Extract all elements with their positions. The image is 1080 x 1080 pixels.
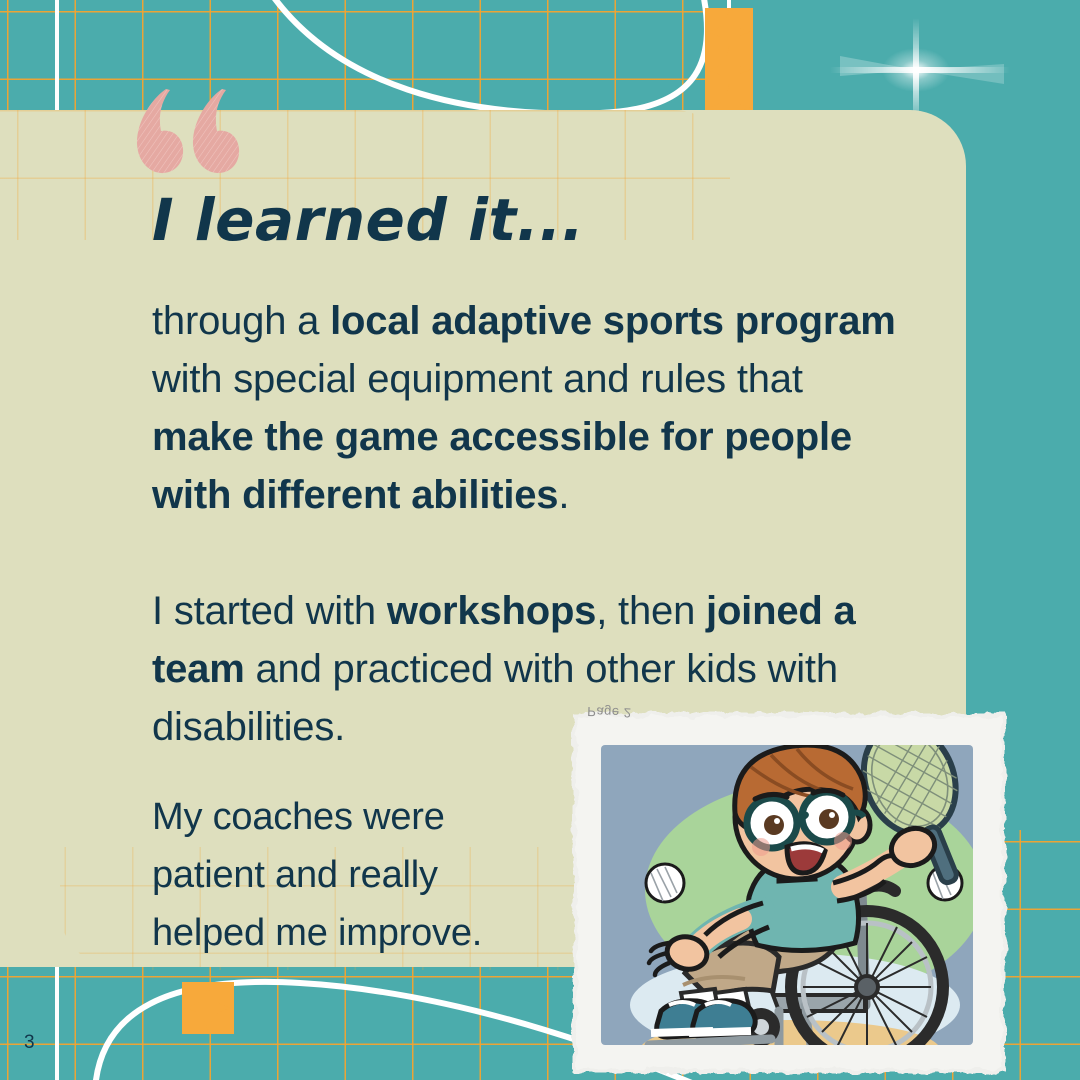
text-run-bold: local adaptive sports program	[330, 299, 895, 343]
text-run: .	[558, 473, 569, 517]
text-run: My coaches were patient and really helpe…	[152, 796, 482, 954]
boy-in-wheelchair-badminton-illustration: Page 2	[565, 705, 1013, 1080]
paragraph-1: through a local adaptive sports program …	[152, 292, 912, 524]
page-title: I learned it...	[152, 186, 584, 254]
text-run: , then	[596, 589, 706, 633]
text-run: with special equipment and rules that	[152, 357, 803, 401]
paragraph-3: My coaches were patient and really helpe…	[152, 788, 552, 962]
text-run: through a	[152, 299, 330, 343]
star-bottom-icon	[182, 982, 234, 1034]
text-run: I started with	[152, 589, 387, 633]
page-number: 3	[24, 1032, 35, 1054]
text-run-bold: make the game accessible for people with…	[152, 415, 852, 517]
slide-root: I learned it... through a local adaptive…	[0, 0, 1080, 1080]
text-run-bold: workshops	[387, 589, 596, 633]
torn-paper-page-label: Page 2	[587, 704, 632, 721]
quote-open-icon	[128, 84, 240, 176]
white-frame-top-right	[727, 0, 1031, 120]
